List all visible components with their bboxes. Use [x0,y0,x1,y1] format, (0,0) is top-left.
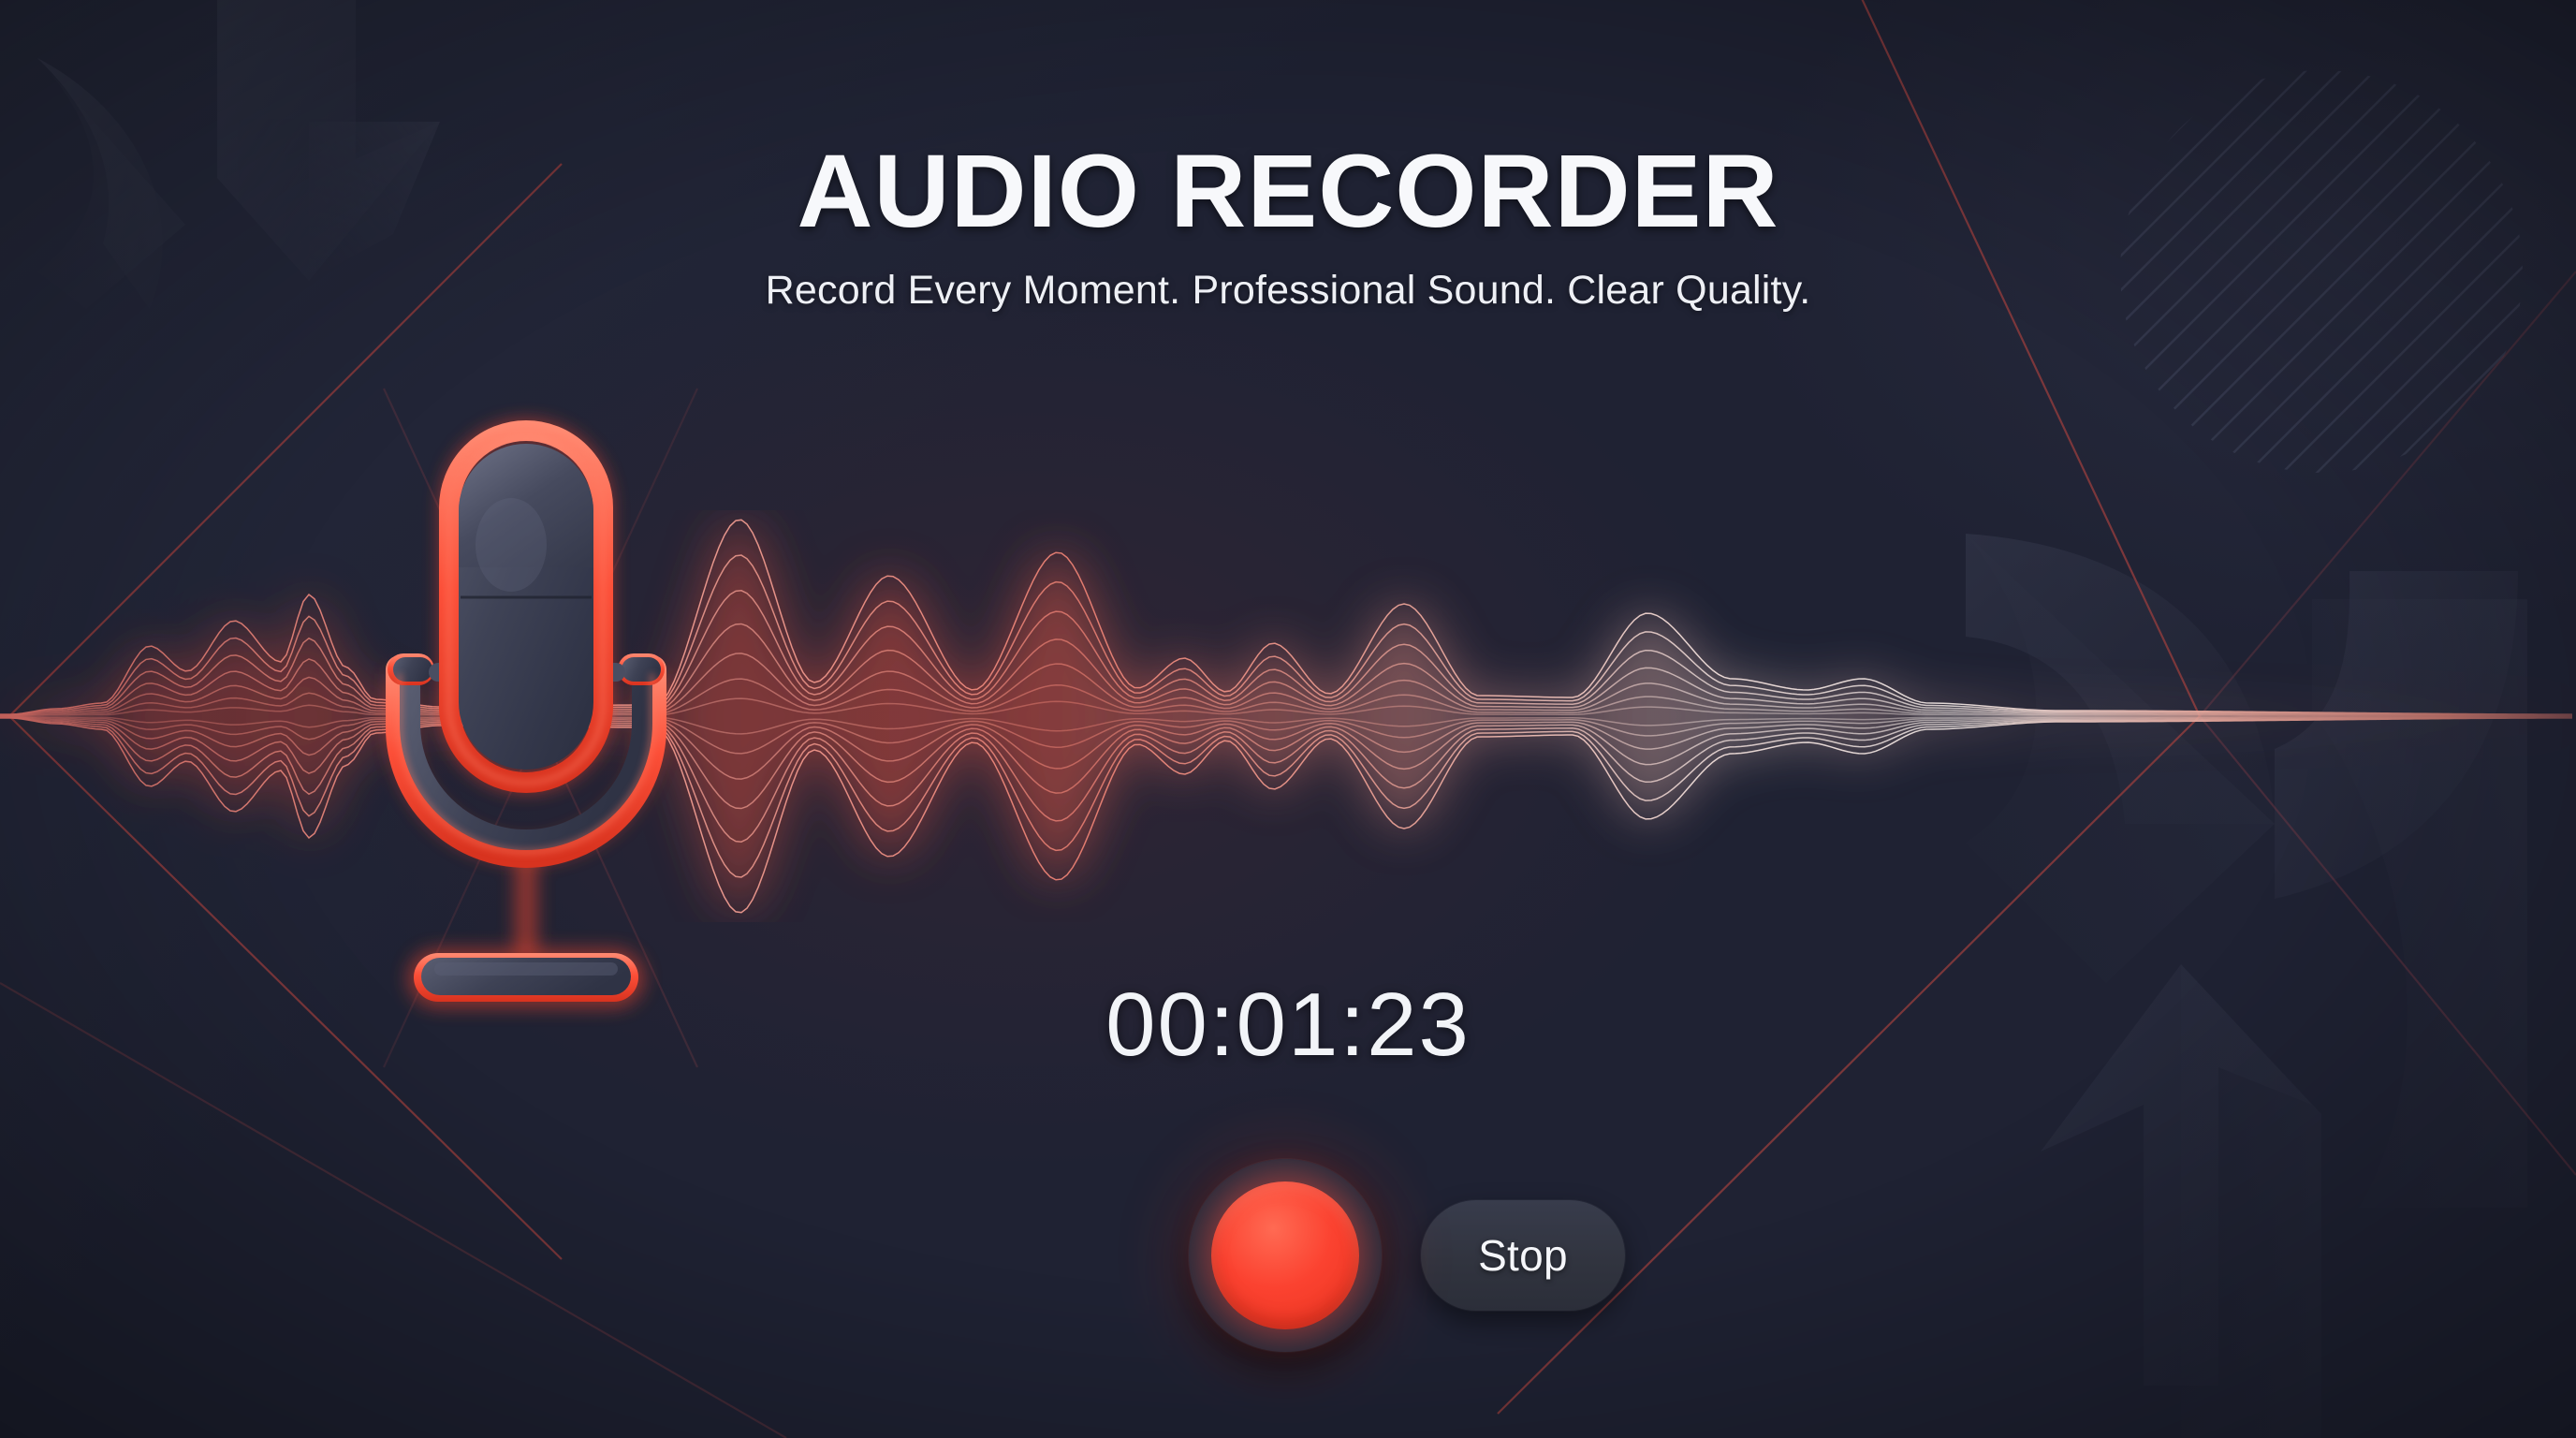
record-button[interactable] [1189,1159,1382,1352]
mic-specular [476,498,547,592]
microphone-icon [348,393,704,1049]
stop-button[interactable]: Stop [1421,1200,1625,1311]
page-title: AUDIO RECORDER [0,140,2576,243]
elapsed-time-display: 00:01:23 [0,974,2576,1077]
transport-controls: Stop [1189,1159,1625,1352]
record-dot-icon [1211,1181,1359,1329]
page-subtitle: Record Every Moment. Professional Sound.… [0,268,2576,314]
hero-header: AUDIO RECORDER Record Every Moment. Prof… [0,140,2576,314]
audio-recorder-hero: AUDIO RECORDER Record Every Moment. Prof… [0,0,2576,1438]
